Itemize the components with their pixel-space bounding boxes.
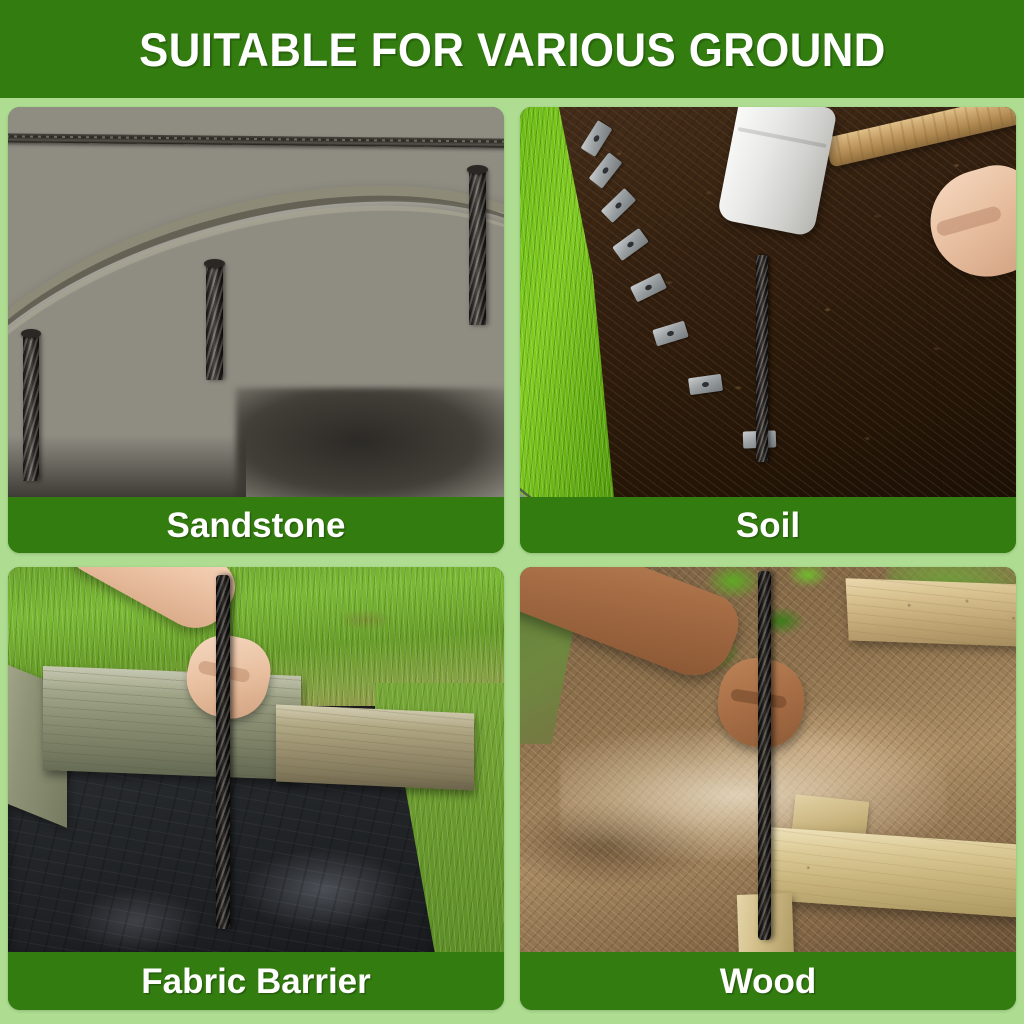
panel-grid: Sandstone [8,107,1016,1010]
rebar-stake-icon [756,255,768,462]
rebar-stake-icon [469,169,486,325]
caption-label: Soil [736,508,800,543]
caption-soil: Soil [520,497,1016,553]
photo-fabric-barrier [8,567,504,952]
panel-fabric-barrier[interactable]: Fabric Barrier [8,567,504,1010]
page-title: SUITABLE FOR VARIOUS GROUND [139,26,886,73]
panel-sandstone[interactable]: Sandstone [8,107,504,553]
photo-wood [520,567,1016,952]
caption-sandstone: Sandstone [8,497,504,553]
rebar-stake-icon [758,571,771,941]
photo-soil [520,107,1016,497]
header-banner: SUITABLE FOR VARIOUS GROUND [0,0,1024,98]
caption-label: Sandstone [167,508,346,543]
caption-label: Wood [720,964,817,999]
caption-fabric-barrier: Fabric Barrier [8,952,504,1010]
rebar-stake-icon [216,575,230,929]
panel-soil[interactable]: Soil [520,107,1016,553]
infographic-root: SUITABLE FOR VARIOUS GROUND Sandstone [0,0,1024,1024]
photo-sandstone [8,107,504,497]
rebar-stake-icon [23,333,39,481]
timber-board-right [276,705,474,791]
caption-wood: Wood [520,952,1016,1010]
panel-wood[interactable]: Wood [520,567,1016,1010]
caption-label: Fabric Barrier [141,964,371,999]
rebar-stake-icon [206,263,223,380]
wood-board-upper [846,579,1016,648]
